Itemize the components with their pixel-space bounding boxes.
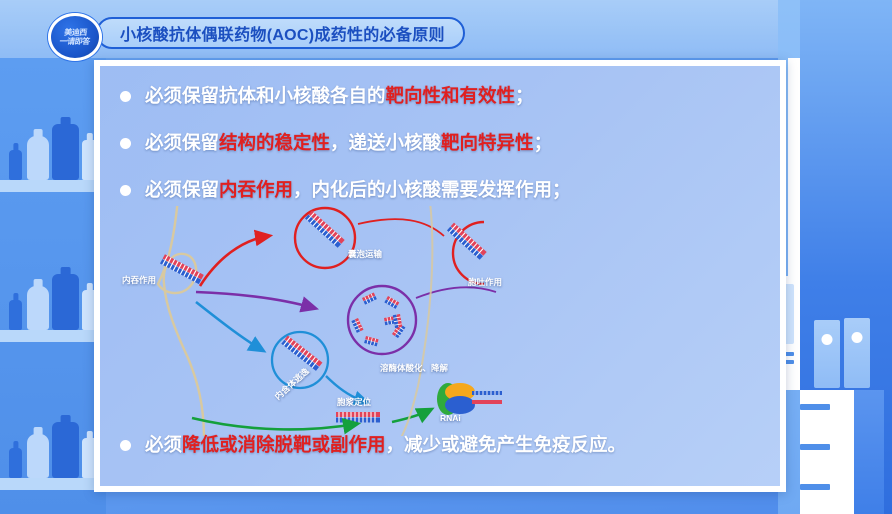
- bullet-segment: 结构的稳定性: [219, 132, 330, 153]
- drawer-handle: [800, 444, 830, 450]
- bullet-segment: 内吞作用: [219, 179, 293, 200]
- bottle-silhouette: [52, 124, 79, 180]
- shelf-plank: [0, 330, 106, 342]
- arrow-lysosome-out: [416, 287, 496, 298]
- arrow-endocytosis-red: [200, 236, 268, 286]
- binder-folder: [844, 318, 870, 388]
- bullet-segment: ，内化后的小核酸需要发挥作用；: [293, 179, 571, 200]
- bullet-segment: 必须: [145, 434, 182, 455]
- bottle-silhouette: [27, 286, 49, 330]
- bullet-segment: ，减少或避免产生免疫反应。: [386, 434, 627, 455]
- bullet-item-bottom: 必须降低或消除脱靶或副作用，减少或避免产生免疫反应。: [120, 433, 626, 458]
- cell-membrane: [158, 206, 204, 436]
- drawer-handle: [800, 404, 830, 410]
- logo-text: 美迪西 一请即答: [59, 29, 91, 46]
- bullet-segment: 靶向特异性: [441, 132, 534, 153]
- logo-badge[interactable]: 美迪西 一请即答: [48, 13, 102, 61]
- binder-hole: [822, 334, 833, 345]
- diagram-label-endocytosis: 内吞作用: [122, 274, 156, 286]
- bullet-item: 必须保留结构的稳定性，递送小核酸靶向特异性；: [120, 131, 780, 156]
- bullet-dot-icon: [120, 91, 131, 102]
- title-pill: 小核酸抗体偶联药物(AOC)成药性的必备原则: [96, 17, 465, 49]
- cabinet-side-panel: [854, 390, 884, 514]
- bullet-segment: 降低或消除脱靶或副作用: [182, 434, 386, 455]
- endocytosis-diagram: 内吞作用 囊泡运输 胞吐作用 溶酶体酸化、降解 内含体逃逸 胞浆定位 RNAi: [100, 206, 780, 436]
- sirna-duplex-cytoplasm: [336, 412, 380, 423]
- bullet-dot-icon: [120, 138, 131, 149]
- arrow-lysosome-purple: [196, 292, 314, 308]
- binder-hole: [852, 332, 863, 343]
- bottle-silhouette: [27, 136, 49, 180]
- shelf-plank: [0, 478, 106, 490]
- logo-line-1: 美迪西: [60, 29, 91, 38]
- bullet-segment: 必须保留: [145, 132, 219, 153]
- shelf-plank: [0, 180, 106, 192]
- bottle-silhouette: [9, 448, 22, 478]
- bullet-dot-icon: [120, 440, 131, 451]
- degraded-fragments: [351, 293, 405, 347]
- bullet-segment: ；: [534, 132, 553, 153]
- logo-line-2: 一请即答: [59, 37, 90, 46]
- bullet-segment: ；: [515, 85, 534, 106]
- bullet-text-4: 必须降低或消除脱靶或副作用，减少或避免产生免疫反应。: [145, 433, 626, 458]
- bullet-dot-icon: [120, 185, 131, 196]
- bottle-silhouette: [52, 422, 79, 478]
- bottle-silhouette: [9, 150, 22, 180]
- arrow-endosome-blue: [196, 302, 262, 350]
- slide-screenshot: 美迪西 一请即答 小核酸抗体偶联药物(AOC)成药性的必备原则 必须保留抗体和小…: [0, 0, 892, 514]
- diagram-label-cytoplasm: 胞浆定位: [337, 396, 371, 408]
- bullet-text-3: 必须保留内吞作用，内化后的小核酸需要发挥作用；: [145, 178, 571, 203]
- bullet-list: 必须保留抗体和小核酸各自的靶向性和有效性； 必须保留结构的稳定性，递送小核酸靶向…: [100, 66, 780, 225]
- page-title: 小核酸抗体偶联药物(AOC)成药性的必备原则: [120, 21, 445, 45]
- binder-folder: [814, 320, 840, 388]
- diagram-label-exocytosis: 胞吐作用: [468, 276, 502, 288]
- bullet-item: 必须保留抗体和小核酸各自的靶向性和有效性；: [120, 84, 780, 109]
- diagram-label-vesicle-transport: 囊泡运输: [348, 248, 382, 260]
- risc-complex: [437, 383, 502, 415]
- slide-content: 必须保留抗体和小核酸各自的靶向性和有效性； 必须保留结构的稳定性，递送小核酸靶向…: [100, 66, 780, 486]
- bottle-silhouette: [27, 434, 49, 478]
- bottle-silhouette: [52, 274, 79, 330]
- bullet-segment: 靶向性和有效性: [386, 85, 516, 106]
- diagram-svg: [100, 206, 780, 436]
- bullet-segment: 必须保留抗体和小核酸各自的: [145, 85, 386, 106]
- bullet-segment: ，递送小核酸: [330, 132, 441, 153]
- slide-panel: 必须保留抗体和小核酸各自的靶向性和有效性； 必须保留结构的稳定性，递送小核酸靶向…: [94, 60, 786, 492]
- bullet-item: 必须保留内吞作用，内化后的小核酸需要发挥作用；: [120, 178, 780, 203]
- bullet-text-2: 必须保留结构的稳定性，递送小核酸靶向特异性；: [145, 131, 552, 156]
- arrow-risc-green: [192, 418, 356, 429]
- bullet-text-1: 必须保留抗体和小核酸各自的靶向性和有效性；: [145, 84, 534, 109]
- slide-header: 美迪西 一请即答 小核酸抗体偶联药物(AOC)成药性的必备原则: [48, 13, 465, 53]
- bottle-silhouette: [9, 300, 22, 330]
- drawer-handle: [800, 484, 830, 490]
- diagram-label-rnai: RNAi: [440, 413, 461, 423]
- diagram-label-lysosome: 溶酶体酸化、降解: [380, 362, 448, 374]
- bullet-segment: 必须保留: [145, 179, 219, 200]
